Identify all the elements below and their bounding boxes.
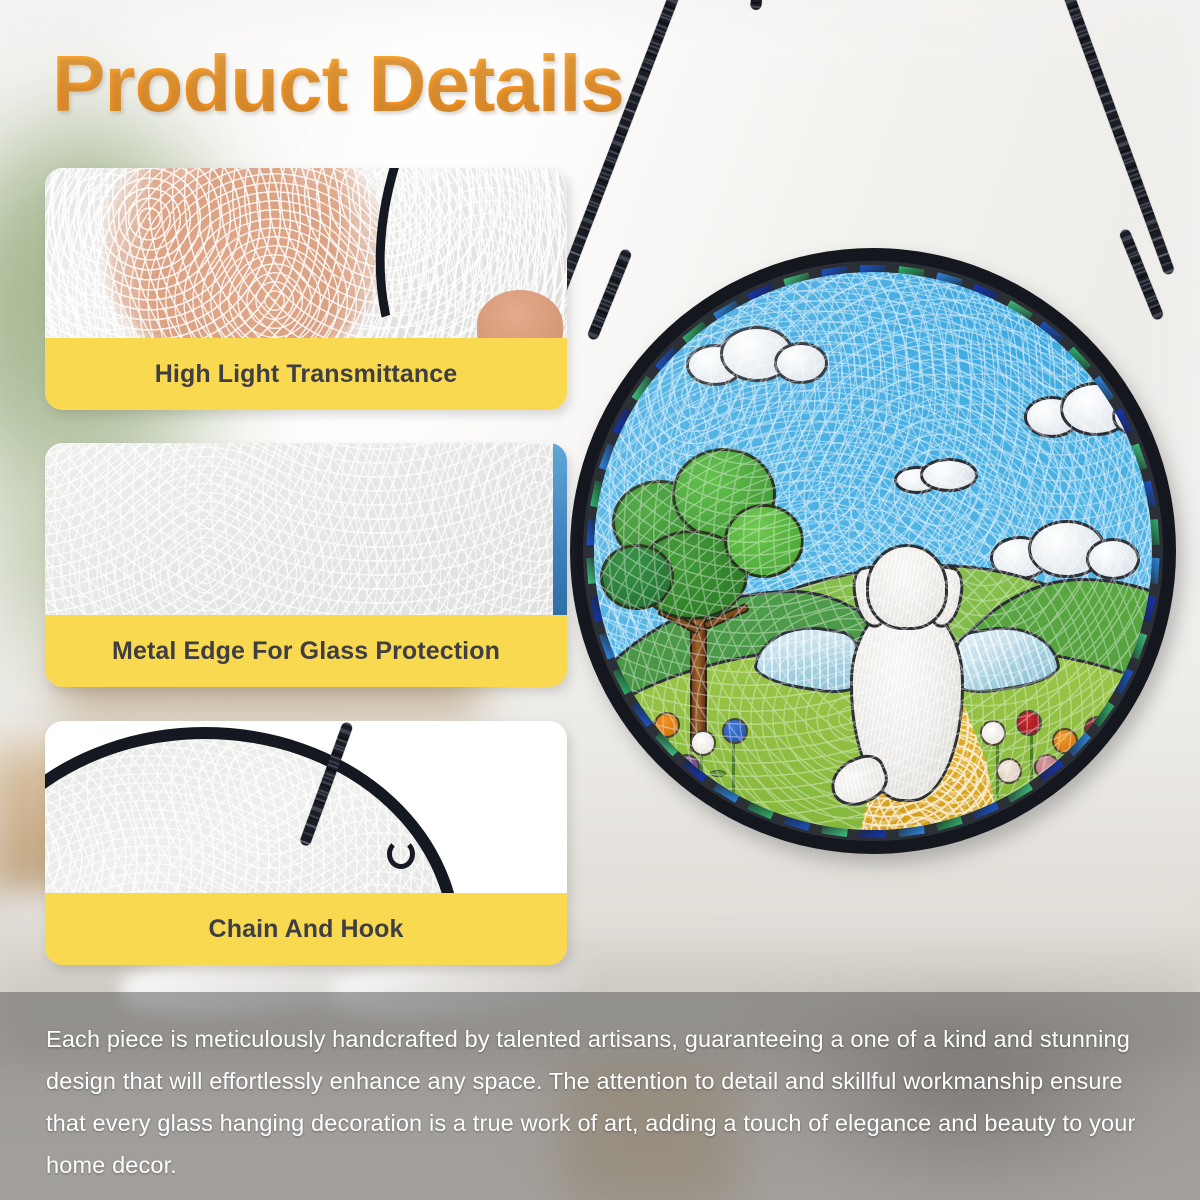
flower-cream-r [996, 758, 1022, 784]
description-text: Each piece is meticulously handcrafted b… [46, 1018, 1154, 1186]
feature-photo-chain-hook [45, 721, 567, 893]
flower-red-r [1016, 710, 1042, 736]
hook [387, 839, 415, 869]
feature-photo-hand-behind-glass [45, 168, 567, 338]
flower-pink-r [1034, 754, 1060, 780]
tree-foliage-4 [724, 504, 804, 578]
glass-sliver-right [553, 443, 567, 615]
stained-glass-scene [594, 272, 1152, 830]
suncatcher-product [570, 248, 1176, 932]
flower-bed-left [614, 692, 774, 812]
suncatcher-solder-ring [583, 261, 1163, 841]
description-overlay: Each piece is meticulously handcrafted b… [0, 992, 1200, 1200]
page-title: Product Details [52, 38, 624, 130]
flower-orange [654, 712, 680, 738]
feature-photo-metal-edge [45, 443, 567, 615]
flower-red [620, 722, 646, 748]
feature-card-chain-and-hook[interactable]: Chain And Hook [45, 721, 567, 965]
flower-bed-right [972, 692, 1132, 812]
suncatcher-metal-frame [570, 248, 1176, 854]
feature-card-metal-edge[interactable]: Metal Edge For Glass Protection [45, 443, 567, 687]
flower-orange-r [1052, 728, 1078, 754]
angel-dog [832, 544, 982, 812]
feature-caption-2: Metal Edge For Glass Protection [45, 615, 567, 687]
flower-blue [722, 718, 748, 744]
metal-edge-arc [45, 443, 567, 615]
feature-caption-1: High Light Transmittance [45, 338, 567, 410]
flower-blue-low [636, 758, 662, 784]
flower-white [690, 730, 716, 756]
tree-foliage-5 [600, 544, 674, 610]
flower-maroon-r [1084, 716, 1110, 742]
flower-purple [674, 754, 700, 780]
feature-caption-3: Chain And Hook [45, 893, 567, 965]
flower-white-r [980, 720, 1006, 746]
feature-card-high-light-transmittance[interactable]: High Light Transmittance [45, 168, 567, 410]
dog-head [866, 544, 948, 630]
